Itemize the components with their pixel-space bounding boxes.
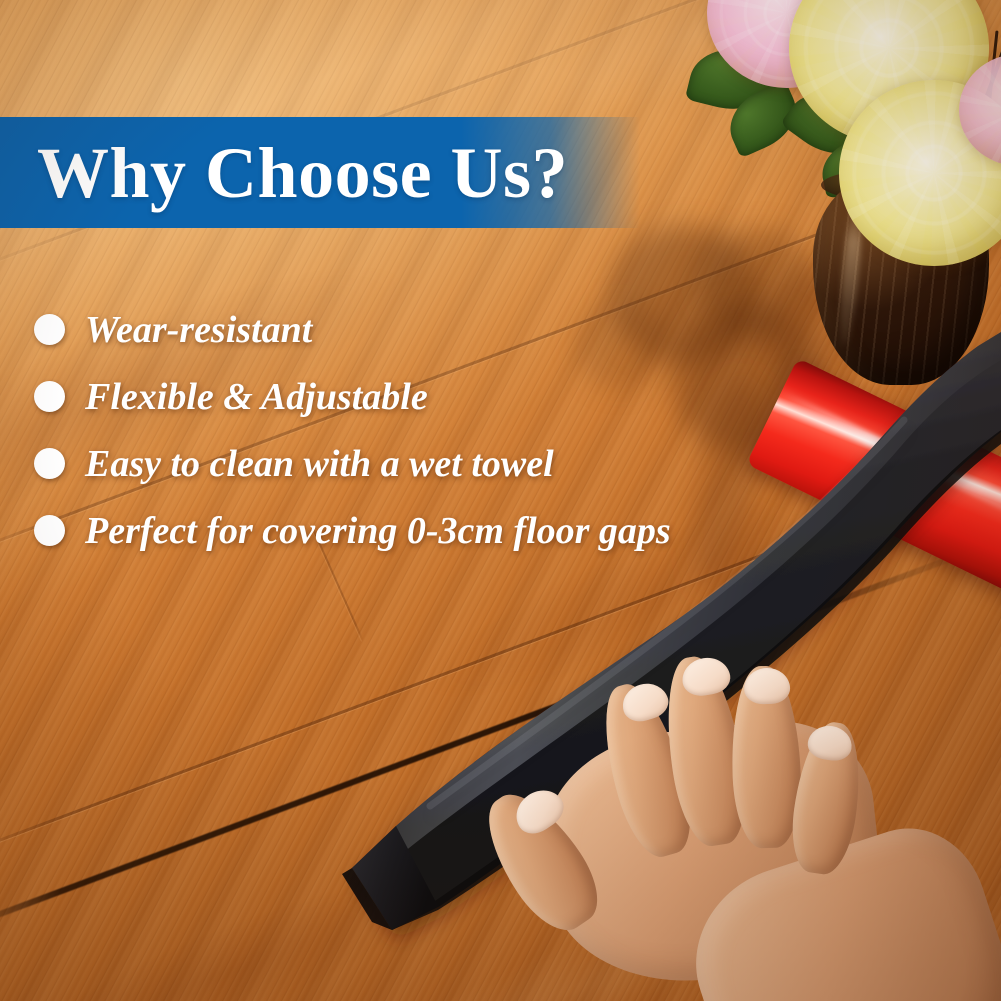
feature-label: Easy to clean with a wet towel bbox=[85, 445, 554, 483]
list-item: Flexible & Adjustable bbox=[34, 363, 671, 430]
bullet-dot-icon bbox=[34, 448, 65, 479]
feature-label: Flexible & Adjustable bbox=[85, 378, 428, 416]
headline-banner: Why Choose Us? bbox=[0, 117, 640, 228]
bullet-dot-icon bbox=[34, 515, 65, 546]
list-item: Easy to clean with a wet towel bbox=[34, 430, 671, 497]
bullet-dot-icon bbox=[34, 381, 65, 412]
hand-pressing-strip bbox=[470, 700, 1001, 1001]
feature-list: Wear-resistant Flexible & Adjustable Eas… bbox=[34, 296, 671, 564]
bullet-dot-icon bbox=[34, 314, 65, 345]
list-item: Perfect for covering 0-3cm floor gaps bbox=[34, 497, 671, 564]
product-marketing-image: Why Choose Us? Wear-resistant Flexible &… bbox=[0, 0, 1001, 1001]
feature-label: Perfect for covering 0-3cm floor gaps bbox=[85, 512, 671, 550]
list-item: Wear-resistant bbox=[34, 296, 671, 363]
page-title: Why Choose Us? bbox=[0, 137, 568, 209]
feature-label: Wear-resistant bbox=[85, 311, 312, 349]
